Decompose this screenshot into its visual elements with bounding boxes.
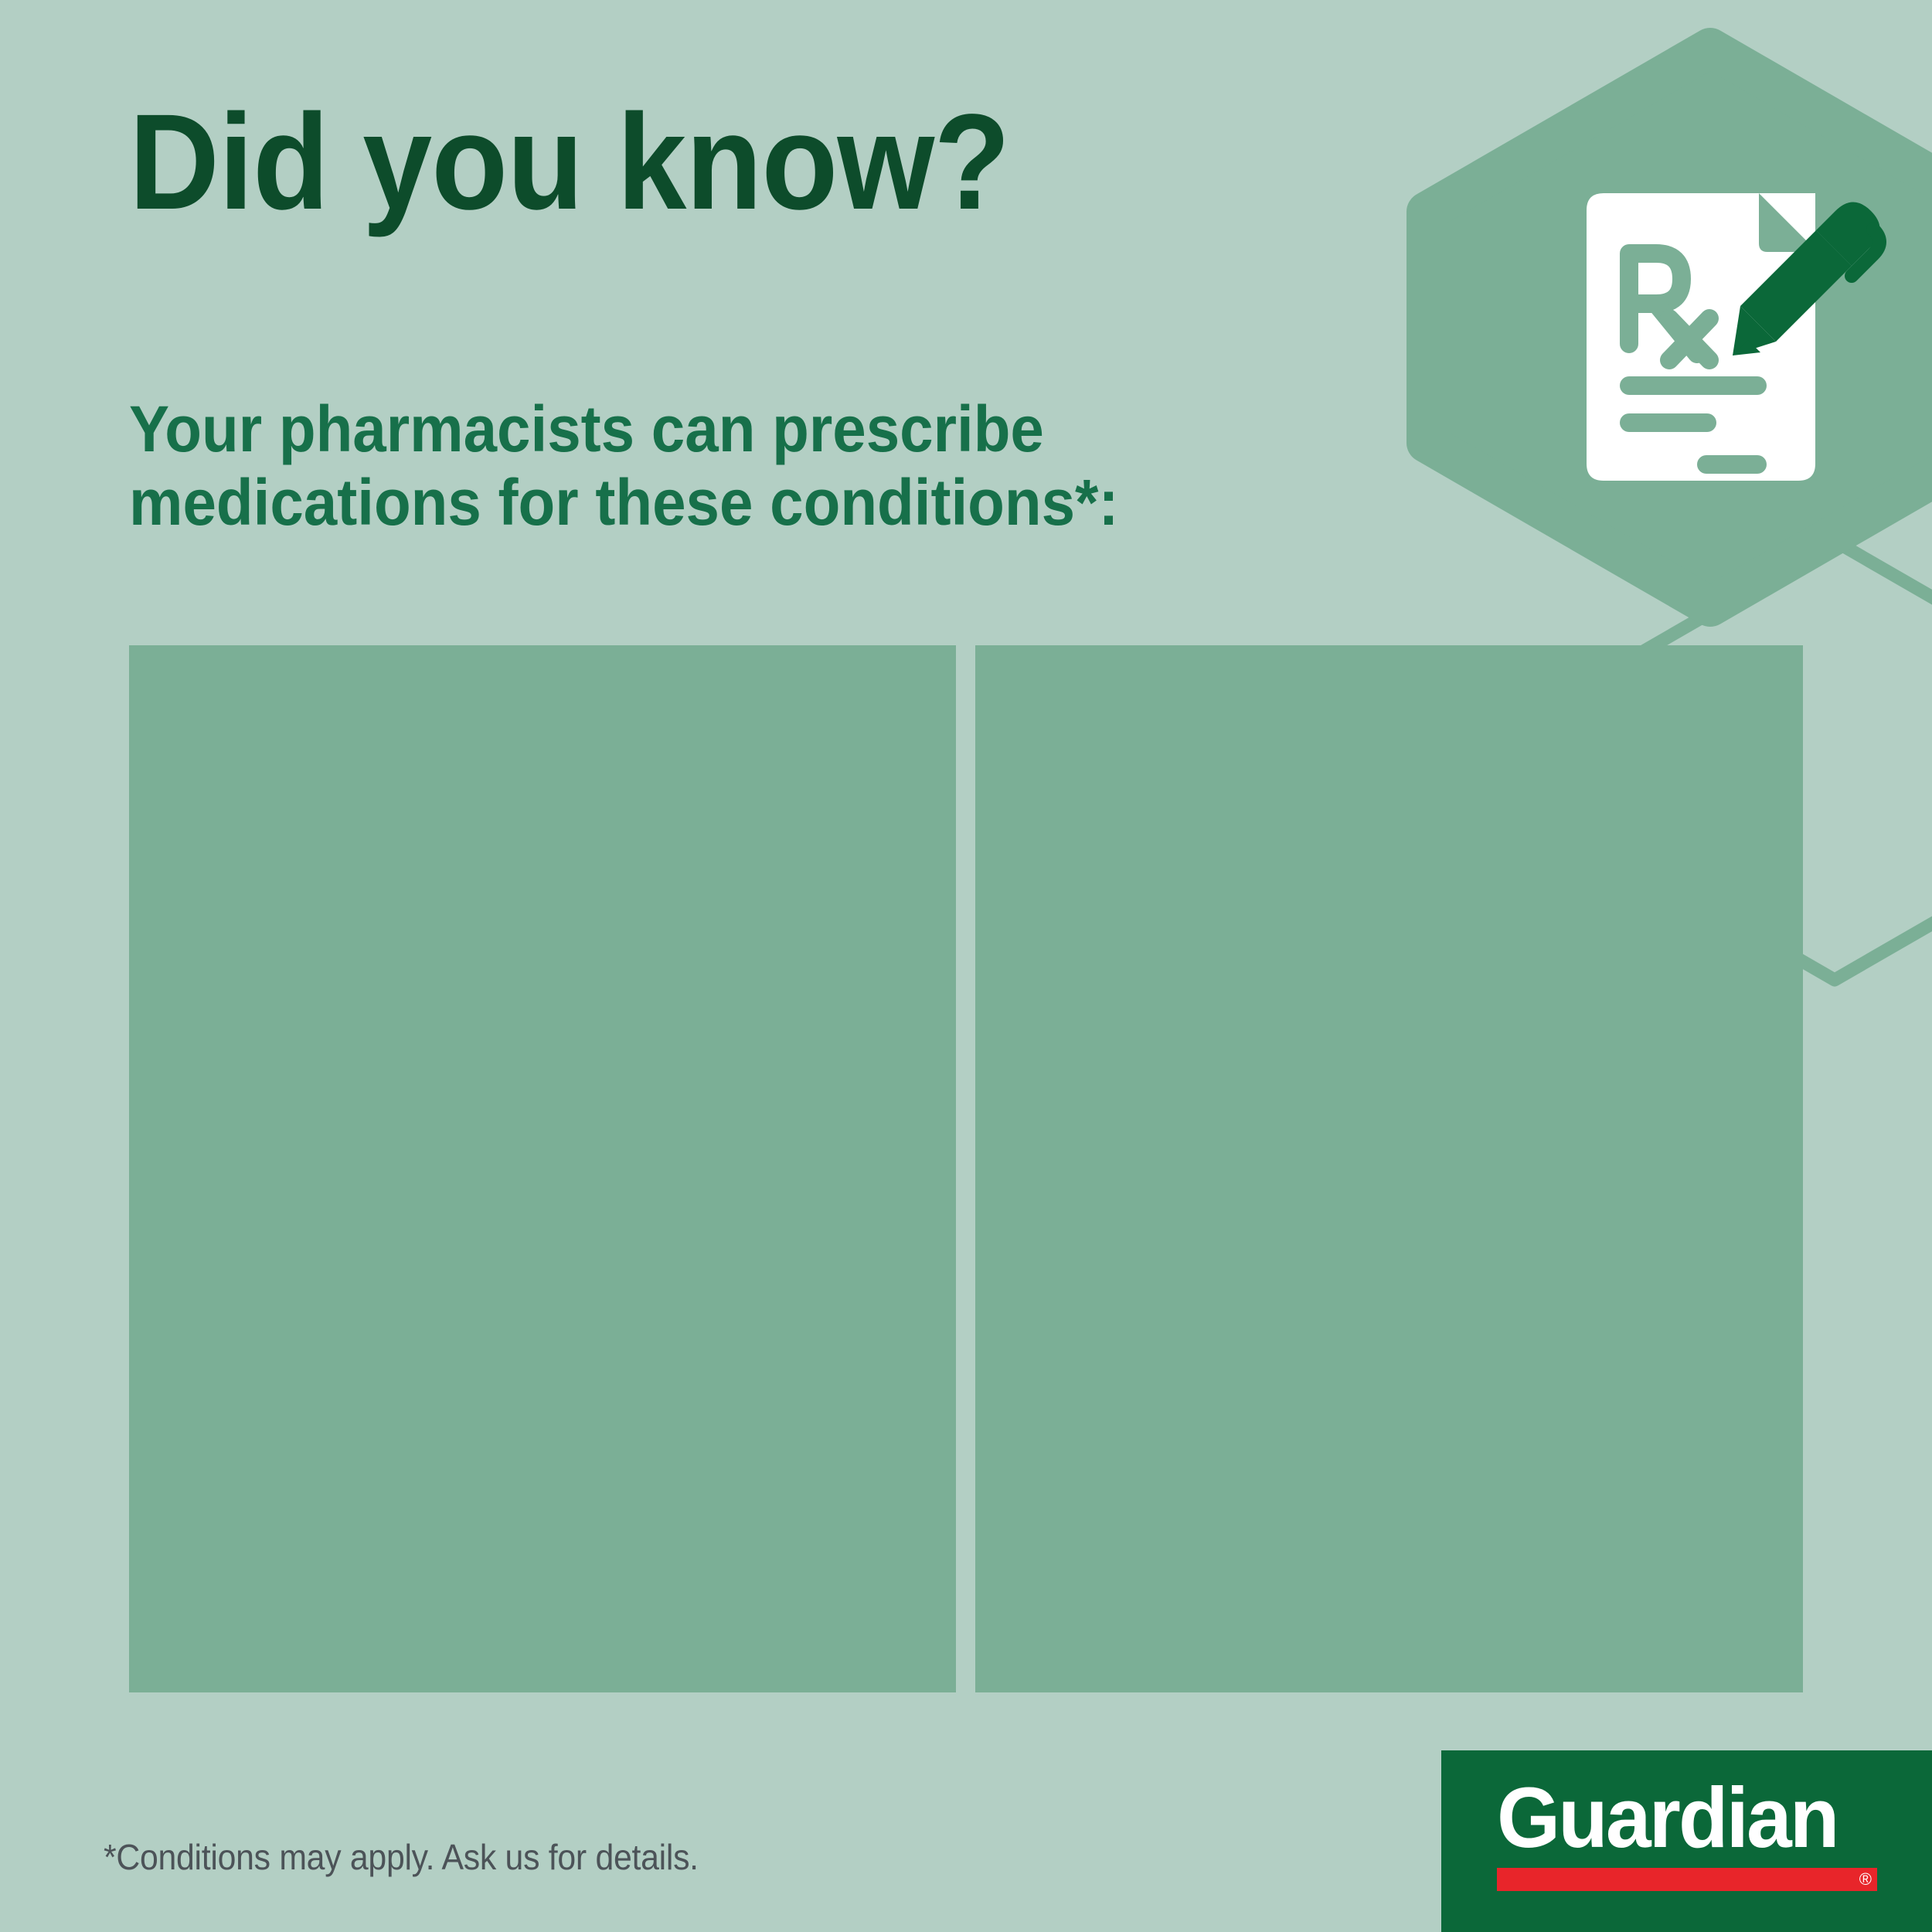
conditions-panel-left xyxy=(129,645,956,1692)
poster-canvas: Did you know? Your pharmacists can presc… xyxy=(0,0,1932,1932)
document-fold xyxy=(1759,193,1818,252)
page-title: Did you know? xyxy=(129,94,1009,230)
guardian-wordmark: Guardian xyxy=(1497,1778,1862,1859)
document-page xyxy=(1587,193,1815,481)
document-line-2 xyxy=(1620,413,1716,432)
rx-letter-r xyxy=(1629,253,1682,344)
page-subtitle: Your pharmacists can prescribe medicatio… xyxy=(129,393,1118,539)
rx-leg xyxy=(1656,304,1697,354)
pen-icon xyxy=(1733,202,1880,356)
page-subtitle-line-2: medications for these conditions*: xyxy=(129,466,1118,539)
page-subtitle-line-1: Your pharmacists can prescribe xyxy=(129,393,1118,466)
document-signature-line xyxy=(1697,455,1767,474)
footnote-disclaimer: *Conditions may apply. Ask us for detail… xyxy=(104,1836,699,1878)
document-line-1 xyxy=(1620,376,1767,395)
conditions-panel-right xyxy=(975,645,1803,1692)
prescription-document-pen-icon xyxy=(1587,193,1880,481)
guardian-logo: Guardian ® xyxy=(1441,1750,1932,1932)
rx-letter-x xyxy=(1669,318,1709,360)
hexagon-filled-icon xyxy=(1427,48,1932,607)
registered-trademark-icon: ® xyxy=(1859,1870,1872,1889)
guardian-red-bar: ® xyxy=(1497,1868,1877,1891)
